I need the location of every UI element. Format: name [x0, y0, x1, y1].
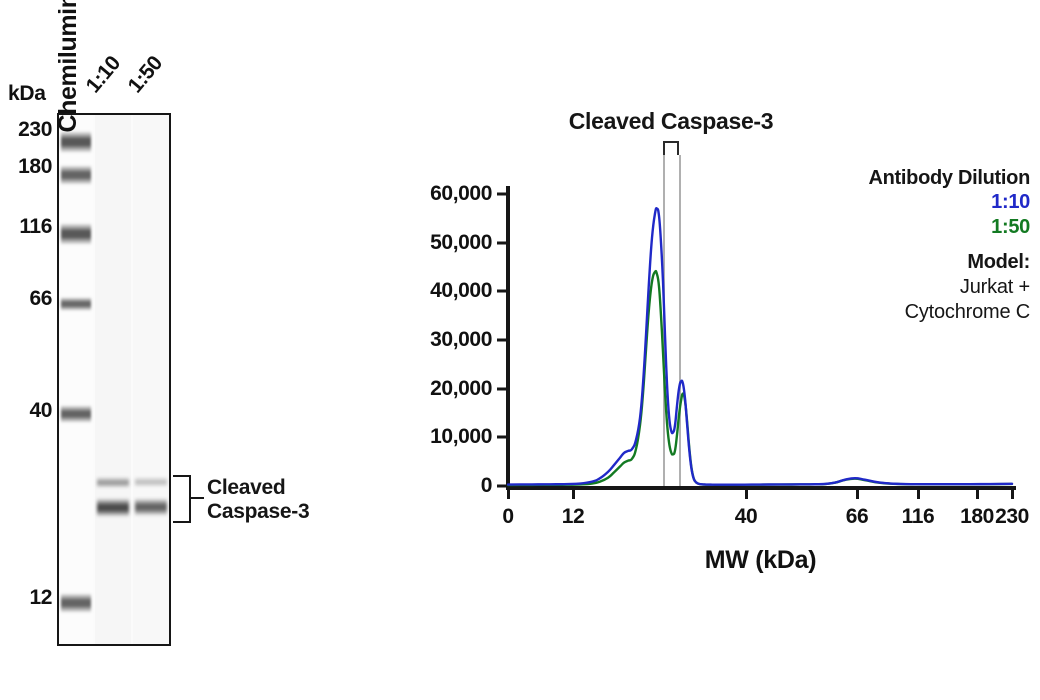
- trace-svg: [0, 0, 1040, 700]
- legend-series-1-10: 1:10: [780, 190, 1030, 214]
- legend-model-title: Model:: [780, 250, 1030, 275]
- legend-title: Antibody Dilution: [780, 166, 1030, 190]
- figure-root: kDa 1:10 1:50 230180116664012 Cleaved Ca…: [0, 0, 1040, 700]
- legend-model-line-2: Cytochrome C: [780, 300, 1030, 325]
- legend-model-line-1: Jurkat +: [780, 275, 1030, 300]
- legend-series-1-50: 1:50: [780, 215, 1030, 239]
- chart-legend: Antibody Dilution 1:10 1:50 Model: Jurka…: [780, 166, 1030, 325]
